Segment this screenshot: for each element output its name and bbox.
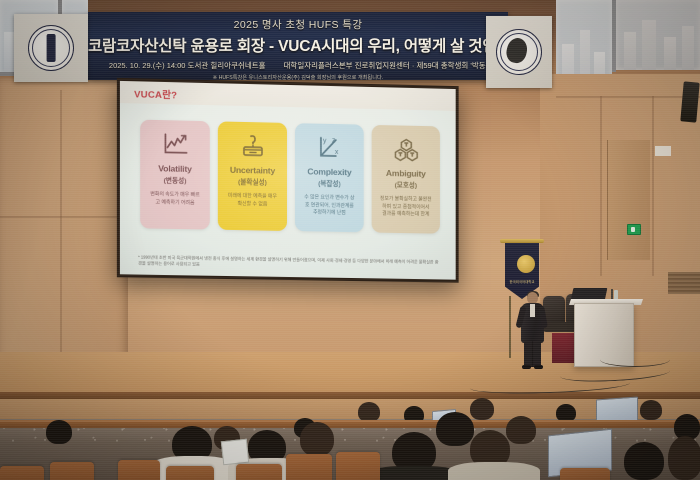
presentation-slide: VUCA란? Volatility (변동성) 변화의 <box>120 81 456 280</box>
banner-subtitle: 2025 명사 초청 HUFS 특강 <box>88 17 508 32</box>
wall-vent <box>668 272 700 294</box>
svg-text:y: y <box>322 138 326 145</box>
card-title-ko: (불확실성) <box>223 176 282 187</box>
ambiguity-stacked-cubes-icon <box>377 134 435 165</box>
door-sign <box>655 146 671 156</box>
card-description: 변화의 속도가 매우 빠르고 예측하기 어려움 <box>145 191 205 207</box>
vuca-card-volatility: Volatility (변동성) 변화의 속도가 매우 빠르고 예측하기 어려움 <box>140 120 210 230</box>
pennant-emblem-icon <box>517 255 535 273</box>
audience-head-foreground <box>668 436 700 480</box>
card-description: 수 많은 요인과 변수가 상호 연관되어, 인과관계를 추정하기에 난점 <box>300 194 359 218</box>
auditorium-seat[interactable] <box>0 466 44 480</box>
card-description: 미래에 대한 예측을 매우 확신할 수 없음 <box>223 193 282 209</box>
audience-head <box>46 420 72 444</box>
lecture-hall-photo: 2025 명사 초청 HUFS 특강 코람코자산신탁 윤용로 회장 - VUCA… <box>0 0 700 480</box>
slide-footnote: * 1990년대 초반 미국 육군대학원에서 냉전 종식 후에 설명하는 세계 … <box>138 254 442 272</box>
auditorium-seat[interactable] <box>336 452 380 480</box>
audience-shoulders <box>368 466 460 480</box>
card-title-en: Volatility <box>145 163 205 174</box>
audience-head-foreground <box>300 422 334 456</box>
audience-head-foreground <box>624 442 664 480</box>
card-title-ko: (복잡성) <box>300 177 359 188</box>
card-title-en: Complexity <box>300 166 359 177</box>
vuca-card-ambiguity: Ambiguity (모호성) 정보가 불확실하고 불완전하며 있고 중첩적이어… <box>372 125 440 234</box>
audience-head <box>358 402 380 422</box>
card-title-en: Uncertainty <box>223 165 282 176</box>
wall-seam <box>556 96 700 98</box>
student-council-seal-icon <box>496 29 542 75</box>
banner-datetime: 2025. 10. 29.(수) 14:00 도서관 힐리아쿠쉬네트홀 <box>109 60 266 71</box>
presenter-legs <box>524 341 541 367</box>
auditorium-seat[interactable] <box>560 468 610 480</box>
vuca-card-group: Volatility (변동성) 변화의 속도가 매우 빠르고 예측하기 어려움 <box>140 120 440 234</box>
presenter-shoe <box>522 365 531 369</box>
slide-title: VUCA란? <box>134 86 177 101</box>
hufs-seal-icon <box>28 25 74 71</box>
audience-area <box>0 396 700 480</box>
svg-text:z: z <box>331 137 335 144</box>
wall-seam <box>600 96 602 276</box>
audience-shoulders <box>448 462 540 480</box>
auditorium-seat[interactable] <box>118 460 160 480</box>
uncertainty-question-box-icon <box>223 131 282 162</box>
seat-row-back <box>0 420 700 428</box>
audience-tablet <box>221 439 249 466</box>
card-description: 정보가 불확실하고 불완전하며 있고 중첩적이어서 결과를 예측하는데 한계 <box>377 196 435 220</box>
card-title-ko: (모호성) <box>377 179 435 190</box>
card-title-en: Ambiguity <box>377 168 435 179</box>
wall-seam <box>652 96 654 276</box>
audience-head <box>470 398 494 420</box>
pennant-caption: 한국외국어대학교 <box>505 279 539 284</box>
volatility-zigzag-chart-icon <box>145 129 205 160</box>
vuca-card-complexity: y z x Complexity (복잡성) 수 많은 요인과 변수가 상호 연… <box>295 123 364 232</box>
auditorium-seat[interactable] <box>50 462 94 480</box>
auditorium-seat[interactable] <box>166 466 214 480</box>
vuca-card-uncertainty: Uncertainty (불확실성) 미래에 대한 예측을 매우 확신할 수 없… <box>218 121 287 231</box>
banner-title: 코람코자산신탁 윤용로 회장 - VUCA시대의 우리, 어떻게 살 것인가 <box>88 34 508 56</box>
presenter <box>519 292 547 370</box>
window-upper-right-2 <box>616 0 700 70</box>
university-flag-left <box>14 14 88 82</box>
audience-head <box>436 412 474 446</box>
card-title-ko: (변동성) <box>145 174 205 185</box>
projection-screen: VUCA란? Volatility (변동성) 변화의 <box>117 78 459 283</box>
wall-seam <box>0 216 130 218</box>
auditorium-seat[interactable] <box>236 464 282 480</box>
banner-organizers: 대학일자리플러스본부 진로취업지원센터 · 제59대 총학생회 '박동' <box>284 60 488 71</box>
auditorium-seat[interactable] <box>286 454 332 480</box>
slide-body: Volatility (변동성) 변화의 속도가 매우 빠르고 예측하기 어려움 <box>120 103 456 280</box>
complexity-xyz-axes-icon: y z x <box>300 132 359 163</box>
university-flag-right <box>486 16 552 88</box>
event-banner: 2025 명사 초청 HUFS 특강 코람코자산신탁 윤용로 회장 - VUCA… <box>88 12 508 80</box>
svg-text:x: x <box>334 149 338 156</box>
audience-head <box>640 400 662 420</box>
presenter-shirt <box>530 304 535 317</box>
presenter-shoe <box>534 365 543 369</box>
side-door[interactable] <box>607 140 650 260</box>
wall-seam <box>60 90 62 380</box>
audience-head <box>506 416 536 444</box>
exit-sign-icon <box>627 224 641 235</box>
window-mullion-right <box>612 0 616 72</box>
pennant-pole <box>509 296 511 358</box>
wall-panel-left <box>0 78 128 378</box>
pennant-crossbar <box>500 239 544 243</box>
